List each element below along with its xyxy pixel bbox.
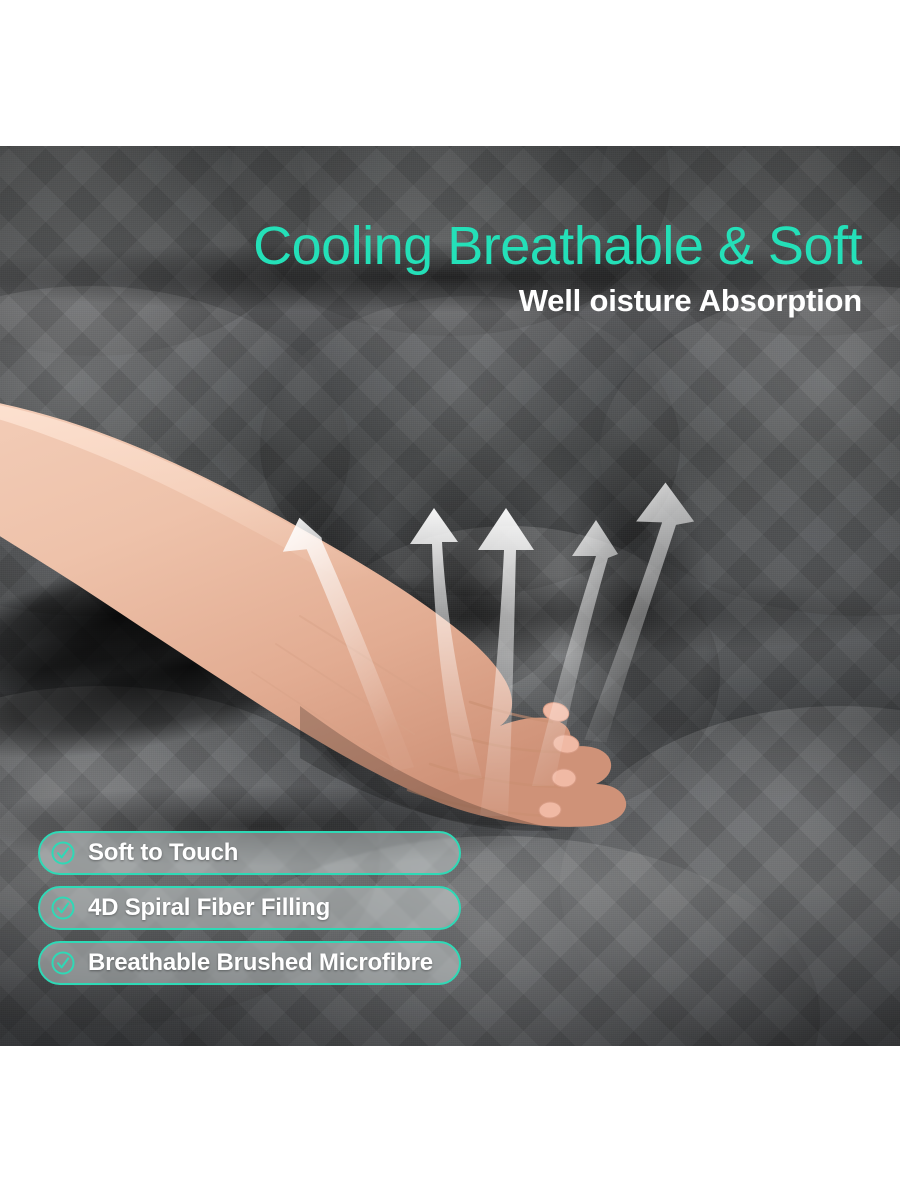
page-title: Cooling Breathable & Soft	[0, 218, 862, 275]
check-circle-icon	[50, 895, 76, 921]
product-infographic-page: Cooling Breathable & Soft Well oisture A…	[0, 0, 900, 1199]
feature-badge-label: 4D Spiral Fiber Filling	[88, 894, 330, 922]
page-subtitle: Well oisture Absorption	[0, 283, 862, 319]
feature-badge-breathable-brushed-microfibre[interactable]: Breathable Brushed Microfibre	[38, 941, 461, 985]
headline-block: Cooling Breathable & Soft Well oisture A…	[0, 218, 900, 319]
feature-badge-4d-spiral-fiber-filling[interactable]: 4D Spiral Fiber Filling	[38, 886, 461, 930]
feature-badge-label: Soft to Touch	[88, 839, 238, 867]
check-circle-icon	[50, 840, 76, 866]
feature-badge-list: Soft to Touch 4D Spiral Fiber Filling Br…	[38, 831, 461, 985]
check-circle-icon	[50, 950, 76, 976]
feature-badge-soft-to-touch[interactable]: Soft to Touch	[38, 831, 461, 875]
feature-badge-label: Breathable Brushed Microfibre	[88, 949, 433, 977]
